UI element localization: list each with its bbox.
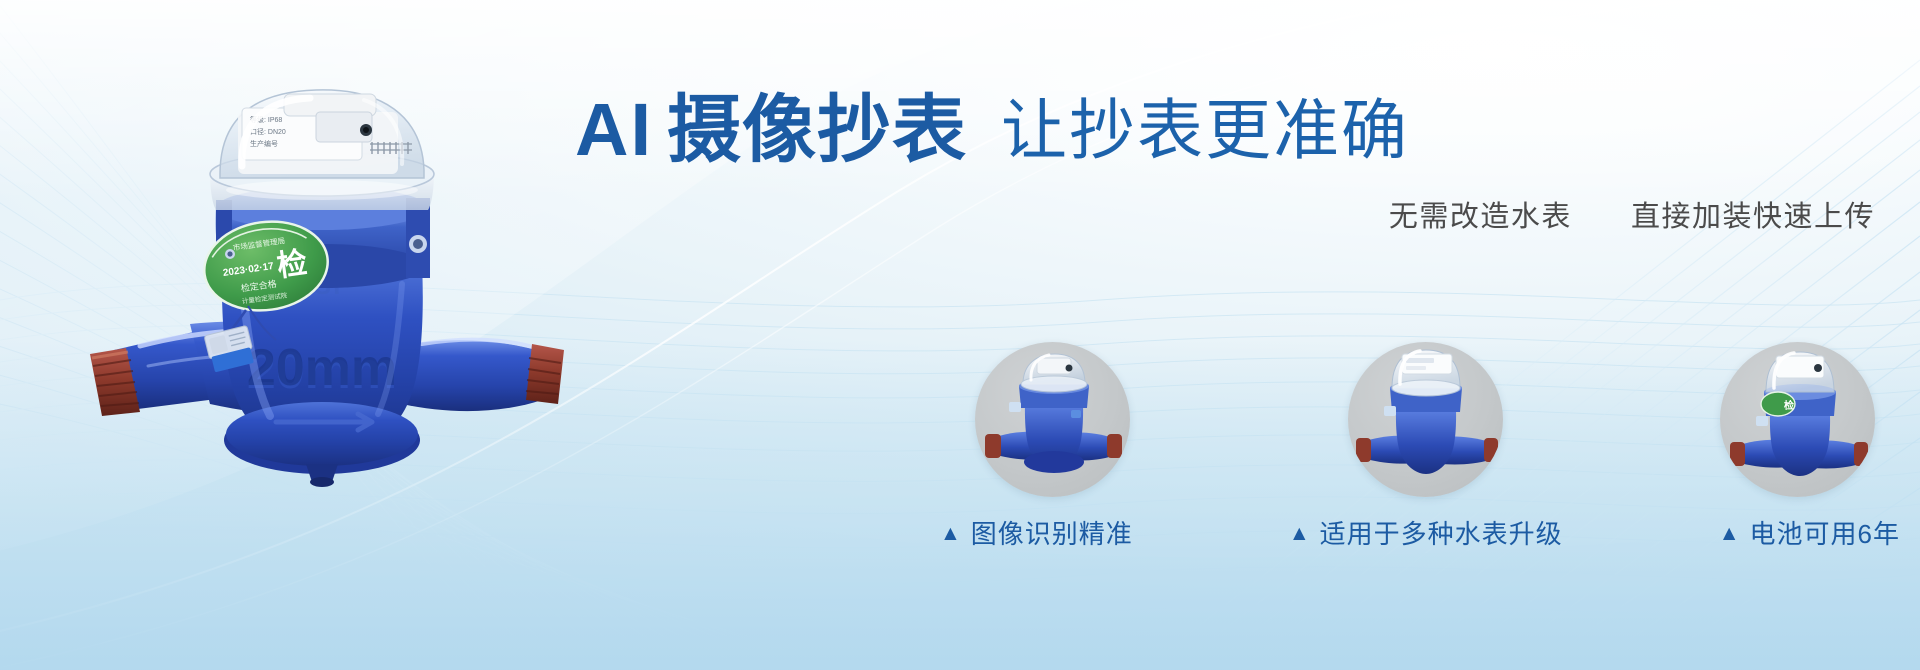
svg-text:检: 检	[275, 245, 309, 283]
feature-thumb-2[interactable]	[1348, 342, 1503, 497]
subtitle: 无需改造水表 直接加装快速上传	[575, 193, 1875, 235]
headline-ai: AI	[575, 92, 653, 169]
svg-text:检: 检	[1784, 399, 1794, 412]
triangle-marker-icon: ▲	[1289, 523, 1311, 544]
page-title: AI 摄像抄表 让抄表更准确	[575, 92, 1875, 169]
feature-label-1: 图像识别精准	[971, 514, 1133, 551]
feature-caption-row: ▲ 图像识别精准 ▲ 适用于多种水表升级 ▲ 电池可用6年	[940, 514, 1900, 551]
feature-thumb-3[interactable]: 检	[1720, 342, 1875, 497]
feature-label-2: 适用于多种水表升级	[1320, 514, 1563, 551]
svg-text:口径: DN20: 口径: DN20	[250, 127, 286, 136]
feature-thumb-1[interactable]	[975, 342, 1130, 497]
headline-strong: 摄像抄表	[667, 92, 967, 169]
copy-block: AI 摄像抄表 让抄表更准确 无需改造水表 直接加装快速上传	[575, 92, 1875, 235]
triangle-marker-icon: ▲	[940, 523, 962, 544]
feature-caption-3: ▲ 电池可用6年	[1719, 514, 1900, 551]
headline-light: 让抄表更准确	[1001, 96, 1409, 165]
svg-text:20mm: 20mm	[247, 339, 397, 397]
thumbnail-image-1	[975, 342, 1130, 497]
hero-product-image: 20mm 20mm NSF	[70, 78, 570, 508]
subtitle-right: 直接加装快速上传	[1631, 201, 1875, 233]
svg-text:生产编号: 生产编号	[250, 139, 278, 148]
thumbnail-image-3: 检	[1720, 342, 1875, 497]
feature-label-3: 电池可用6年	[1750, 514, 1900, 551]
promo-banner: 20mm 20mm NSF	[0, 0, 1920, 670]
feature-thumbnail-row: 检	[975, 342, 1875, 497]
feature-caption-2: ▲ 适用于多种水表升级	[1289, 514, 1563, 551]
triangle-marker-icon: ▲	[1719, 523, 1741, 544]
thumbnail-image-2	[1348, 342, 1503, 497]
feature-caption-1: ▲ 图像识别精准	[940, 514, 1133, 551]
subtitle-left: 无需改造水表	[1389, 201, 1572, 233]
